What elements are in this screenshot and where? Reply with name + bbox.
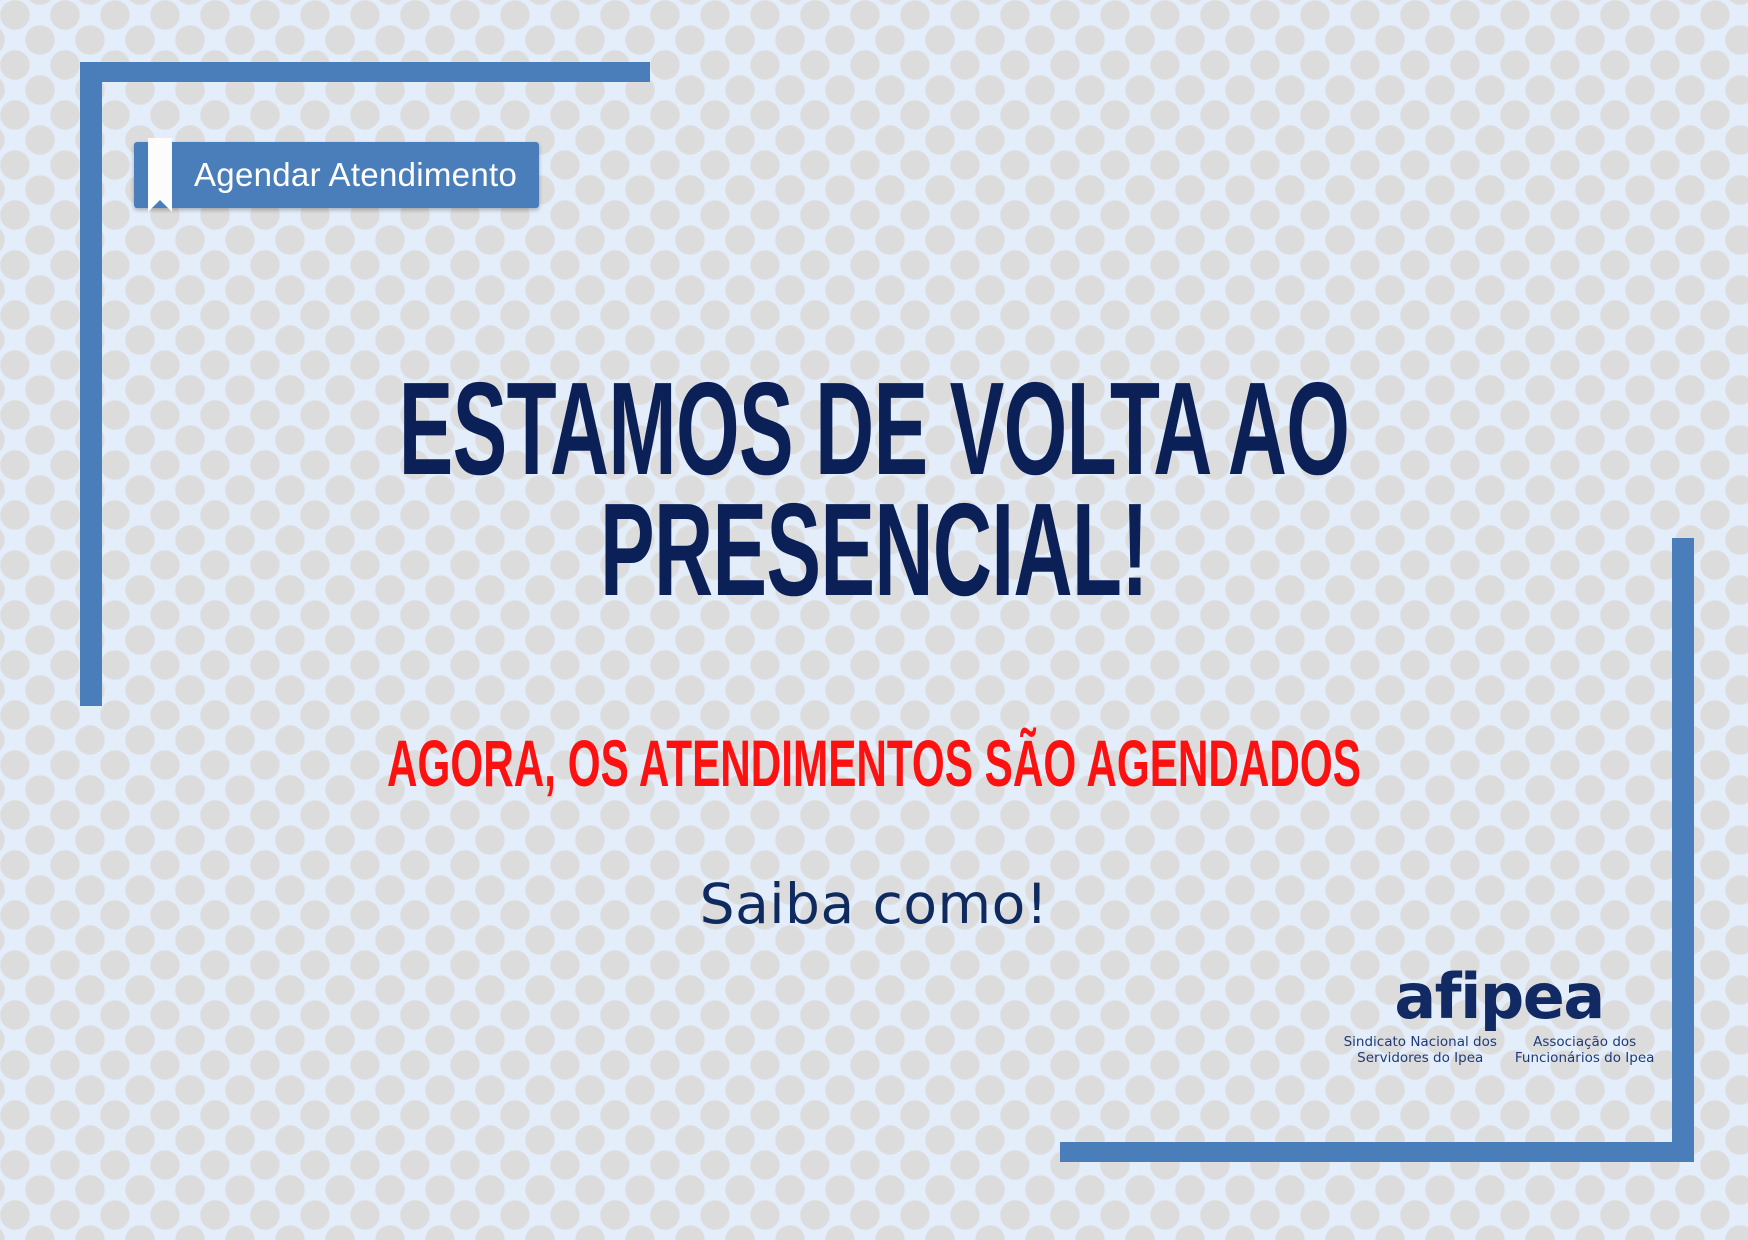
headline-line-2: PRESENCIAL! [332, 489, 1416, 610]
tagline-text: Saiba como! [0, 872, 1748, 936]
frame-top-left-vertical-bar [80, 62, 102, 706]
afipea-tagline-left-line-2: Servidores do Ipea [1344, 1050, 1497, 1066]
bookmark-icon [148, 142, 172, 208]
afipea-logo-tagline: Sindicato Nacional dos Servidores do Ipe… [1374, 1034, 1624, 1067]
frame-bottom-right-vertical-bar [1672, 538, 1694, 1162]
afipea-tagline-left: Sindicato Nacional dos Servidores do Ipe… [1335, 1034, 1506, 1067]
poster-canvas: Agendar Atendimento ESTAMOS DE VOLTA AO … [0, 0, 1748, 1240]
frame-bottom-right-horizontal-bar [1060, 1142, 1694, 1162]
agendar-atendimento-label: Agendar Atendimento [194, 156, 517, 194]
afipea-tagline-right-line-2: Funcionários do Ipea [1515, 1050, 1655, 1066]
subheadline: AGORA, OS ATENDIMENTOS SÃO AGENDADOS [315, 730, 1434, 796]
afipea-logo: afipea Sindicato Nacional dos Servidores… [1374, 968, 1624, 1067]
afipea-tagline-left-line-1: Sindicato Nacional dos [1344, 1034, 1497, 1050]
agendar-atendimento-button[interactable]: Agendar Atendimento [134, 142, 539, 208]
afipea-wordmark: afipea [1374, 968, 1624, 1027]
afipea-tagline-right: Associação dos Funcionários do Ipea [1506, 1034, 1664, 1067]
headline-line-1: ESTAMOS DE VOLTA AO [332, 368, 1416, 489]
page-title: ESTAMOS DE VOLTA AO PRESENCIAL! [332, 368, 1416, 611]
frame-top-left-horizontal-bar [80, 62, 650, 82]
afipea-tagline-right-line-1: Associação dos [1515, 1034, 1655, 1050]
